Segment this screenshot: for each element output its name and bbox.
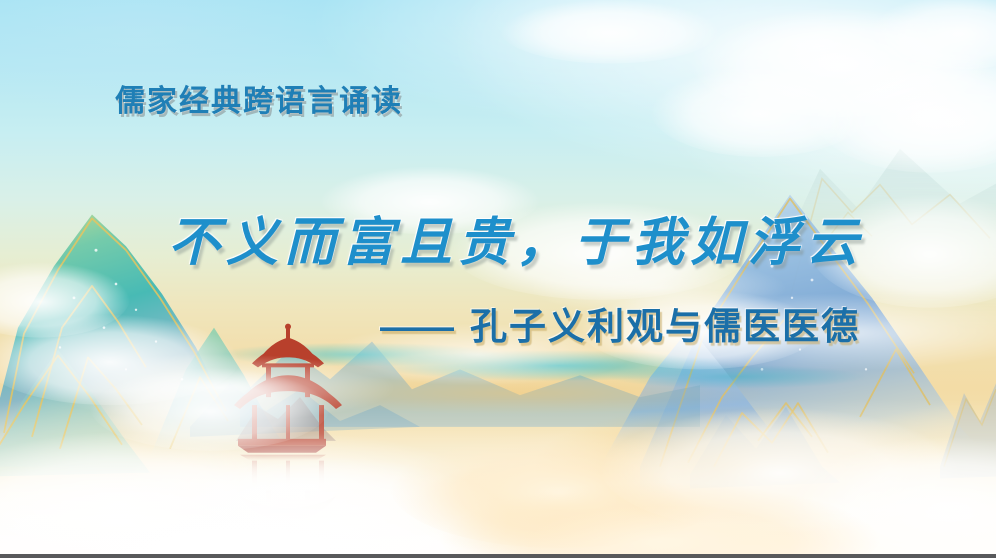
page-title: 不义而富且贵，于我如浮云 — [168, 200, 864, 275]
subtitle: ——孔子义利观与儒医医德 — [380, 296, 860, 350]
kicker-label: 儒家经典跨语言诵读 — [115, 76, 403, 120]
subtitle-dash: —— — [380, 306, 454, 347]
subtitle-text: 孔子义利观与儒医医德 — [470, 306, 860, 347]
slide-canvas: 儒家经典跨语言诵读 不义而富且贵，于我如浮云 ——孔子义利观与儒医医德 — [0, 0, 996, 558]
pavilion-structure — [234, 324, 342, 453]
pavilion-reflection — [240, 455, 336, 523]
